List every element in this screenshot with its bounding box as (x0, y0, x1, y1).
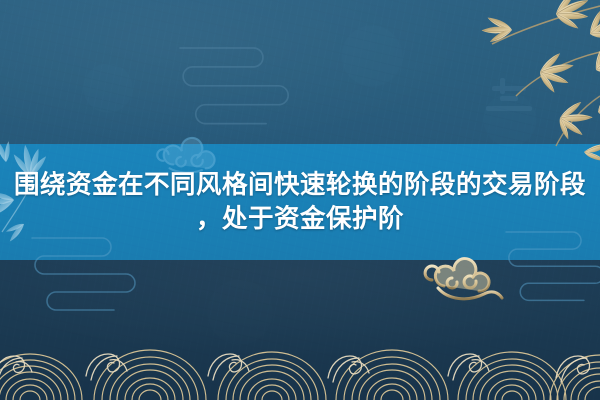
background-band-top (0, 0, 600, 144)
headline-line-2: ，处于资金保护阶 (196, 202, 404, 236)
headline-block: 围绕资金在不同风格间快速轮换的阶段的交易阶段 ，处于资金保护阶 (0, 144, 600, 260)
background-band-bottom (0, 260, 600, 400)
poster-canvas: 围绕资金在不同风格间快速轮换的阶段的交易阶段 ，处于资金保护阶 (0, 0, 600, 400)
headline-line-1: 围绕资金在不同风格间快速轮换的阶段的交易阶段 (14, 168, 586, 202)
